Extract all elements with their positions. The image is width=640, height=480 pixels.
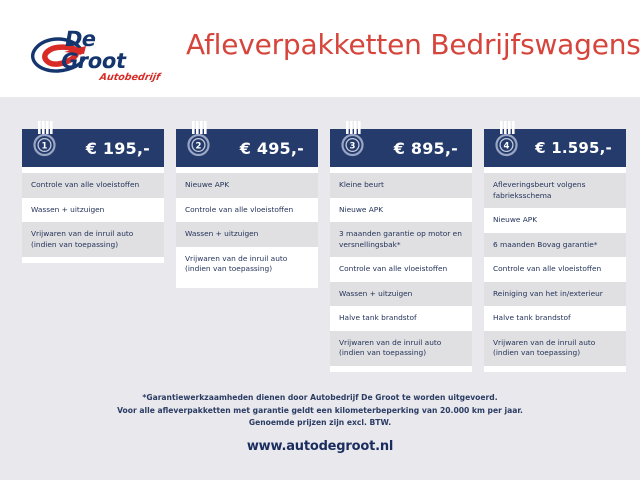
package-item-label: 3 maanden garantie op motor en versnelli…: [339, 229, 464, 250]
page-title: Afleverpakketten Bedrijfswagens: [186, 28, 640, 61]
package-item: Controle van alle vloeistoffen: [330, 257, 472, 282]
package-price-header: 1 € 195,-: [22, 129, 164, 167]
medal-icon: 2: [184, 121, 214, 161]
package-column-1: 1 € 195,- Controle van alle vloeistoffen…: [22, 129, 164, 263]
package-item: Halve tank brandstof: [330, 306, 472, 331]
package-item: Vrijwaren van de inruil auto (indien van…: [484, 331, 626, 366]
package-item-label: Afleveringsbeurt volgens fabrieksschema: [493, 180, 618, 201]
package-price-header: 2 € 495,-: [176, 129, 318, 167]
package-item: Halve tank brandstof: [484, 306, 626, 331]
website-link[interactable]: www.autodegroot.nl: [0, 439, 640, 454]
package-item-label: Wassen + uitzuigen: [339, 289, 412, 300]
logo-subtitle: Autobedrijf: [57, 72, 161, 83]
footnote-line: *Garantiewerkzaamheden dienen door Autob…: [0, 392, 640, 405]
footer-notes: *Garantiewerkzaamheden dienen door Autob…: [0, 392, 640, 430]
package-item-label: 6 maanden Bovag garantie*: [493, 240, 597, 251]
package-column-2: 2 € 495,- Nieuwe APK Controle van alle v…: [176, 129, 318, 288]
footnote-line: Voor alle afleverpakketten met garantie …: [0, 405, 640, 418]
logo-wordmark: De Groot Autobedrijf: [57, 28, 169, 83]
package-column-4: 4 € 1.595,- Afleveringsbeurt volgens fab…: [484, 129, 626, 372]
medal-rank-number: 1: [42, 141, 48, 151]
package-item-label: Halve tank brandstof: [493, 313, 571, 324]
medal-rank-number: 4: [504, 141, 510, 151]
package-item: Afleveringsbeurt volgens fabrieksschema: [484, 173, 626, 208]
package-item-label: Vrijwaren van de inruil auto (indien van…: [185, 254, 310, 275]
package-item-label: Vrijwaren van de inruil auto (indien van…: [493, 338, 618, 359]
package-item-list: Kleine beurt Nieuwe APK 3 maanden garant…: [330, 167, 472, 372]
package-item: Controle van alle vloeistoffen: [22, 173, 164, 198]
package-item-label: Nieuwe APK: [185, 180, 229, 191]
package-column-3: 3 € 895,- Kleine beurt Nieuwe APK 3 maan…: [330, 129, 472, 372]
package-item: 3 maanden garantie op motor en versnelli…: [330, 222, 472, 257]
logo-name: De Groot: [59, 28, 169, 72]
package-item: Controle van alle vloeistoffen: [176, 198, 318, 223]
package-item: Nieuwe APK: [330, 198, 472, 223]
medal-icon: 1: [30, 121, 60, 161]
medal-rank-number: 3: [350, 141, 356, 151]
package-item: Wassen + uitzuigen: [176, 222, 318, 247]
package-price: € 1.595,-: [535, 139, 612, 157]
package-item: Kleine beurt: [330, 173, 472, 198]
package-item: 6 maanden Bovag garantie*: [484, 233, 626, 258]
package-item-label: Halve tank brandstof: [339, 313, 417, 324]
package-price: € 495,-: [240, 139, 304, 158]
footnote-line: Genoemde prijzen zijn excl. BTW.: [0, 417, 640, 430]
medal-icon: 4: [492, 121, 522, 161]
package-item-label: Reiniging van het in/exterieur: [493, 289, 603, 300]
package-item-label: Kleine beurt: [339, 180, 384, 191]
package-item-list: Afleveringsbeurt volgens fabrieksschema …: [484, 167, 626, 372]
medal-rank-number: 2: [196, 141, 202, 151]
package-item: Nieuwe APK: [484, 208, 626, 233]
package-item-label: Controle van alle vloeistoffen: [185, 205, 293, 216]
package-price-header: 4 € 1.595,-: [484, 129, 626, 167]
package-item-label: Nieuwe APK: [493, 215, 537, 226]
package-item-label: Wassen + uitzuigen: [185, 229, 258, 240]
package-item: Wassen + uitzuigen: [22, 198, 164, 223]
package-item: Vrijwaren van de inruil auto (indien van…: [176, 247, 318, 282]
package-item-list: Nieuwe APK Controle van alle vloeistoffe…: [176, 167, 318, 288]
package-item: Reiniging van het in/exterieur: [484, 282, 626, 307]
package-item: Vrijwaren van de inruil auto (indien van…: [22, 222, 164, 257]
poster-page: De Groot Autobedrijf Afleverpakketten Be…: [0, 0, 640, 480]
package-item: Nieuwe APK: [176, 173, 318, 198]
package-item-label: Controle van alle vloeistoffen: [31, 180, 139, 191]
package-item: Controle van alle vloeistoffen: [484, 257, 626, 282]
medal-icon: 3: [338, 121, 368, 161]
package-item-label: Wassen + uitzuigen: [31, 205, 104, 216]
package-item-label: Vrijwaren van de inruil auto (indien van…: [339, 338, 464, 359]
package-item-list: Controle van alle vloeistoffen Wassen + …: [22, 167, 164, 263]
package-item-label: Nieuwe APK: [339, 205, 383, 216]
page-header: De Groot Autobedrijf Afleverpakketten Be…: [0, 0, 640, 97]
brand-logo[interactable]: De Groot Autobedrijf: [24, 26, 164, 76]
package-price-header: 3 € 895,-: [330, 129, 472, 167]
package-item: Wassen + uitzuigen: [330, 282, 472, 307]
package-item-label: Vrijwaren van de inruil auto (indien van…: [31, 229, 156, 250]
package-price: € 195,-: [86, 139, 150, 158]
package-item-label: Controle van alle vloeistoffen: [493, 264, 601, 275]
package-item: Vrijwaren van de inruil auto (indien van…: [330, 331, 472, 366]
package-price: € 895,-: [394, 139, 458, 158]
package-item-label: Controle van alle vloeistoffen: [339, 264, 447, 275]
